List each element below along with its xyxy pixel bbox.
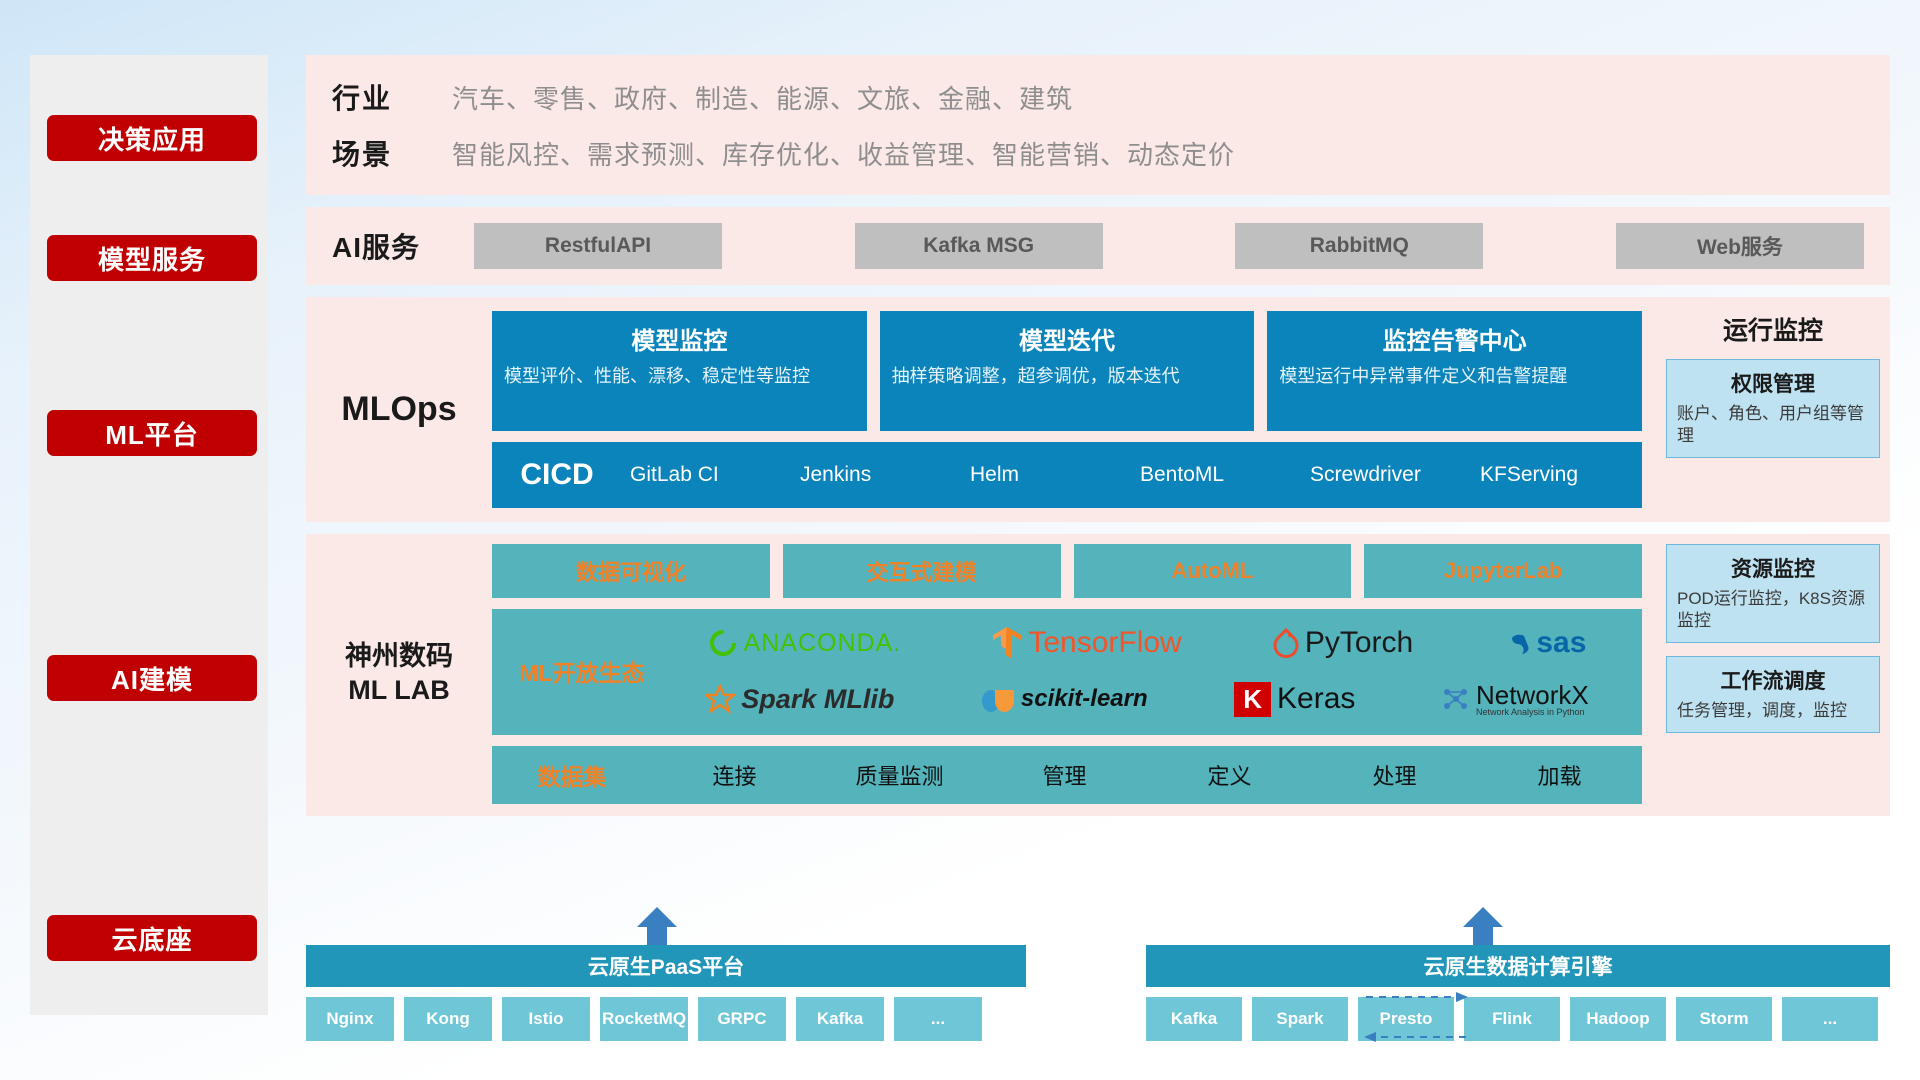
monitor-title: 运行监控	[1666, 311, 1880, 347]
keras-mark: K	[1234, 682, 1271, 717]
service-chip-web[interactable]: Web服务	[1616, 223, 1864, 269]
modeling-row: 神州数码 ML LAB 数据可视化 交互式建模 AutoML JupyterLa…	[306, 534, 1890, 816]
industry-row: 行业 汽车、零售、政府、制造、能源、文旅、金融、建筑	[332, 71, 1890, 123]
modeling-tabs: 数据可视化 交互式建模 AutoML JupyterLab	[492, 544, 1642, 598]
tab-jupyterlab[interactable]: JupyterLab	[1364, 544, 1642, 598]
chip-rocketmq[interactable]: RocketMQ	[600, 997, 688, 1041]
anaconda-logo: ANACONDA.	[708, 628, 902, 658]
dataset-title: 数据集	[492, 758, 652, 792]
main-column: 行业 汽车、零售、政府、制造、能源、文旅、金融、建筑 场景 智能风控、需求预测、…	[306, 55, 1890, 816]
sas-label: sas	[1536, 626, 1586, 660]
cicd-item-bentoml[interactable]: BentoML	[1132, 464, 1302, 486]
ml-ecosystem-label: ML开放生态	[502, 654, 662, 688]
connector-spacer	[306, 987, 1890, 988]
scenario-value: 智能风控、需求预测、库存优化、收益管理、智能营销、动态定价	[452, 135, 1235, 172]
mlops-row: MLOps 模型监控 模型评价、性能、漂移、稳定性等监控 模型迭代 抽样策略调整…	[306, 297, 1890, 522]
tensorflow-label: TensorFlow	[1028, 626, 1181, 660]
mlops-key: MLOps	[306, 311, 492, 508]
cloud-header-gap	[1026, 945, 1146, 987]
upward-arrows	[306, 905, 1890, 945]
pytorch-logo: PyTorch	[1273, 626, 1413, 660]
band-gap	[306, 522, 1890, 534]
monitor-card-workflow[interactable]: 工作流调度 任务管理，调度，监控	[1666, 656, 1880, 733]
chip-istio[interactable]: Istio	[502, 997, 590, 1041]
rail-label: 决策应用	[98, 120, 206, 157]
rail-item-decision-apps[interactable]: 决策应用	[47, 115, 257, 161]
cicd-item-screwdriver[interactable]: Screwdriver	[1302, 464, 1472, 486]
dataset-item-load[interactable]: 加载	[1477, 759, 1642, 791]
dataset-item-quality[interactable]: 质量监测	[817, 759, 982, 791]
networkx-label: NetworkX	[1476, 682, 1589, 708]
tab-data-visualization[interactable]: 数据可视化	[492, 544, 770, 598]
anaconda-label: ANACONDA.	[744, 629, 902, 658]
networkx-logo: NetworkX Network Analysis in Python	[1442, 682, 1589, 717]
pytorch-label: PyTorch	[1305, 626, 1413, 660]
paas-header[interactable]: 云原生PaaS平台	[306, 945, 1026, 987]
chip-kafka[interactable]: Kafka	[796, 997, 884, 1041]
card-title: 模型迭代	[892, 321, 1243, 356]
logo-row-1: ANACONDA. TensorFlow	[662, 615, 1632, 671]
mlops-card-alert-center[interactable]: 监控告警中心 模型运行中异常事件定义和告警提醒	[1267, 311, 1642, 431]
chip-hadoop[interactable]: Hadoop	[1570, 997, 1666, 1041]
chip-storm[interactable]: Storm	[1676, 997, 1772, 1041]
sas-logo: sas	[1504, 626, 1586, 660]
logo-row-2: Spark MLlib scikit-learn	[662, 671, 1632, 727]
monitor-card-resource[interactable]: 资源监控 POD运行监控，K8S资源监控	[1666, 544, 1880, 643]
chip-row-gap	[1026, 997, 1146, 1041]
modeling-key-line1: 神州数码	[345, 640, 453, 674]
rail-item-ai-modeling[interactable]: AI建模	[47, 655, 257, 701]
dataset-item-process[interactable]: 处理	[1312, 759, 1477, 791]
chip-kong[interactable]: Kong	[404, 997, 492, 1041]
card-desc: 模型评价、性能、漂移、稳定性等监控	[504, 364, 855, 388]
scenario-key: 场景	[332, 133, 452, 173]
scikit-learn-logo: scikit-learn	[981, 684, 1148, 714]
keras-logo: K Keras	[1234, 682, 1355, 717]
rail-label: AI建模	[111, 660, 193, 697]
card-title: 监控告警中心	[1279, 321, 1630, 356]
tab-automl[interactable]: AutoML	[1074, 544, 1352, 598]
dataset-item-connect[interactable]: 连接	[652, 759, 817, 791]
ai-service-chips: RestfulAPI Kafka MSG RabbitMQ Web服务	[452, 223, 1864, 269]
dataset-item-define[interactable]: 定义	[1147, 759, 1312, 791]
card-title: 工作流调度	[1677, 665, 1869, 695]
cloud-headers: 云原生PaaS平台 云原生数据计算引擎	[306, 945, 1890, 987]
service-chip-restfulapi[interactable]: RestfulAPI	[474, 223, 722, 269]
rail-item-cloud-base[interactable]: 云底座	[47, 915, 257, 961]
card-desc: 模型运行中异常事件定义和告警提醒	[1279, 364, 1630, 388]
cloud-section: 云原生PaaS平台 云原生数据计算引擎 Nginx Kong Istio Roc…	[306, 905, 1890, 1041]
scikit-learn-label: scikit-learn	[1021, 685, 1148, 713]
engine-chips: Kafka Spark Presto Flink Hadoop Storm ..…	[1146, 997, 1890, 1041]
industry-key: 行业	[332, 77, 452, 117]
cicd-item-kfserving[interactable]: KFServing	[1472, 464, 1642, 486]
engine-header[interactable]: 云原生数据计算引擎	[1146, 945, 1890, 987]
cicd-item-jenkins[interactable]: Jenkins	[792, 464, 962, 486]
chip-kafka-engine[interactable]: Kafka	[1146, 997, 1242, 1041]
service-chip-rabbitmq[interactable]: RabbitMQ	[1235, 223, 1483, 269]
chip-nginx[interactable]: Nginx	[306, 997, 394, 1041]
mlops-cards: 模型监控 模型评价、性能、漂移、稳定性等监控 模型迭代 抽样策略调整，超参调优，…	[492, 311, 1642, 431]
networkx-sublabel: Network Analysis in Python	[1476, 708, 1589, 717]
monitor-rail-top: 运行监控 权限管理 账户、角色、用户组等管理	[1654, 297, 1890, 522]
ai-service-key: AI服务	[332, 226, 452, 266]
rail-item-model-service[interactable]: 模型服务	[47, 235, 257, 281]
cicd-title: CICD	[492, 458, 622, 492]
tensorflow-logo: TensorFlow	[992, 626, 1181, 660]
ai-service-band: AI服务 RestfulAPI Kafka MSG RabbitMQ Web服务	[306, 207, 1890, 285]
cicd-bar: CICD GitLab CI Jenkins Helm BentoML Scre…	[492, 442, 1642, 508]
left-rail: 决策应用 模型服务 ML平台 AI建模 云底座	[30, 55, 268, 1015]
mlops-card-model-monitoring[interactable]: 模型监控 模型评价、性能、漂移、稳定性等监控	[492, 311, 867, 431]
card-desc: 账户、角色、用户组等管理	[1677, 403, 1869, 447]
chip-more-engine[interactable]: ...	[1782, 997, 1878, 1041]
dataset-bar: 数据集 连接 质量监测 管理 定义 处理 加载	[492, 746, 1642, 804]
card-desc: 抽样策略调整，超参调优，版本迭代	[892, 364, 1243, 388]
rail-label: 模型服务	[98, 240, 206, 277]
chip-presto[interactable]: Presto	[1358, 997, 1454, 1041]
chip-spark[interactable]: Spark	[1252, 997, 1348, 1041]
band-gap	[306, 285, 1890, 297]
keras-label: Keras	[1277, 682, 1355, 716]
service-chip-kafka-msg[interactable]: Kafka MSG	[855, 223, 1103, 269]
rail-label: 云底座	[111, 920, 192, 957]
card-title: 资源监控	[1677, 553, 1869, 583]
modeling-band: 神州数码 ML LAB 数据可视化 交互式建模 AutoML JupyterLa…	[306, 534, 1654, 816]
chip-grpc[interactable]: GRPC	[698, 997, 786, 1041]
scenario-row: 场景 智能风控、需求预测、库存优化、收益管理、智能营销、动态定价	[332, 127, 1890, 179]
mlops-card-model-iteration[interactable]: 模型迭代 抽样策略调整，超参调优，版本迭代	[880, 311, 1255, 431]
dataset-item-manage[interactable]: 管理	[982, 759, 1147, 791]
card-title: 模型监控	[504, 321, 855, 356]
spark-label: Spark MLlib	[741, 684, 894, 715]
cloud-chip-rows: Nginx Kong Istio RocketMQ GRPC Kafka ...…	[306, 997, 1890, 1041]
rail-item-ml-platform[interactable]: ML平台	[47, 410, 257, 456]
applications-band: 行业 汽车、零售、政府、制造、能源、文旅、金融、建筑 场景 智能风控、需求预测、…	[306, 55, 1890, 195]
cicd-item-gitlab-ci[interactable]: GitLab CI	[622, 464, 792, 486]
rail-label: ML平台	[105, 415, 199, 452]
modeling-key: 神州数码 ML LAB	[306, 544, 492, 804]
modeling-key-line2: ML LAB	[348, 674, 450, 708]
band-gap	[306, 195, 1890, 207]
spark-mllib-logo: Spark MLlib	[705, 684, 894, 715]
monitor-card-permission[interactable]: 权限管理 账户、角色、用户组等管理	[1666, 359, 1880, 458]
mlops-band: MLOps 模型监控 模型评价、性能、漂移、稳定性等监控 模型迭代 抽样策略调整…	[306, 297, 1654, 522]
ml-ecosystem-box: ML开放生态 ANACONDA.	[492, 609, 1642, 735]
monitor-rail-bottom: 资源监控 POD运行监控，K8S资源监控 工作流调度 任务管理，调度，监控	[1654, 534, 1890, 816]
tab-interactive-modeling[interactable]: 交互式建模	[783, 544, 1061, 598]
card-desc: 任务管理，调度，监控	[1677, 700, 1869, 722]
chip-more-paas[interactable]: ...	[894, 997, 982, 1041]
card-desc: POD运行监控，K8S资源监控	[1677, 588, 1869, 632]
industry-value: 汽车、零售、政府、制造、能源、文旅、金融、建筑	[452, 79, 1073, 116]
card-title: 权限管理	[1677, 368, 1869, 398]
paas-chips: Nginx Kong Istio RocketMQ GRPC Kafka ...	[306, 997, 1026, 1041]
cicd-item-helm[interactable]: Helm	[962, 464, 1132, 486]
chip-flink[interactable]: Flink	[1464, 997, 1560, 1041]
architecture-diagram: 决策应用 模型服务 ML平台 AI建模 云底座 行业 汽车、零售、政府、制造、能…	[0, 0, 1920, 1080]
